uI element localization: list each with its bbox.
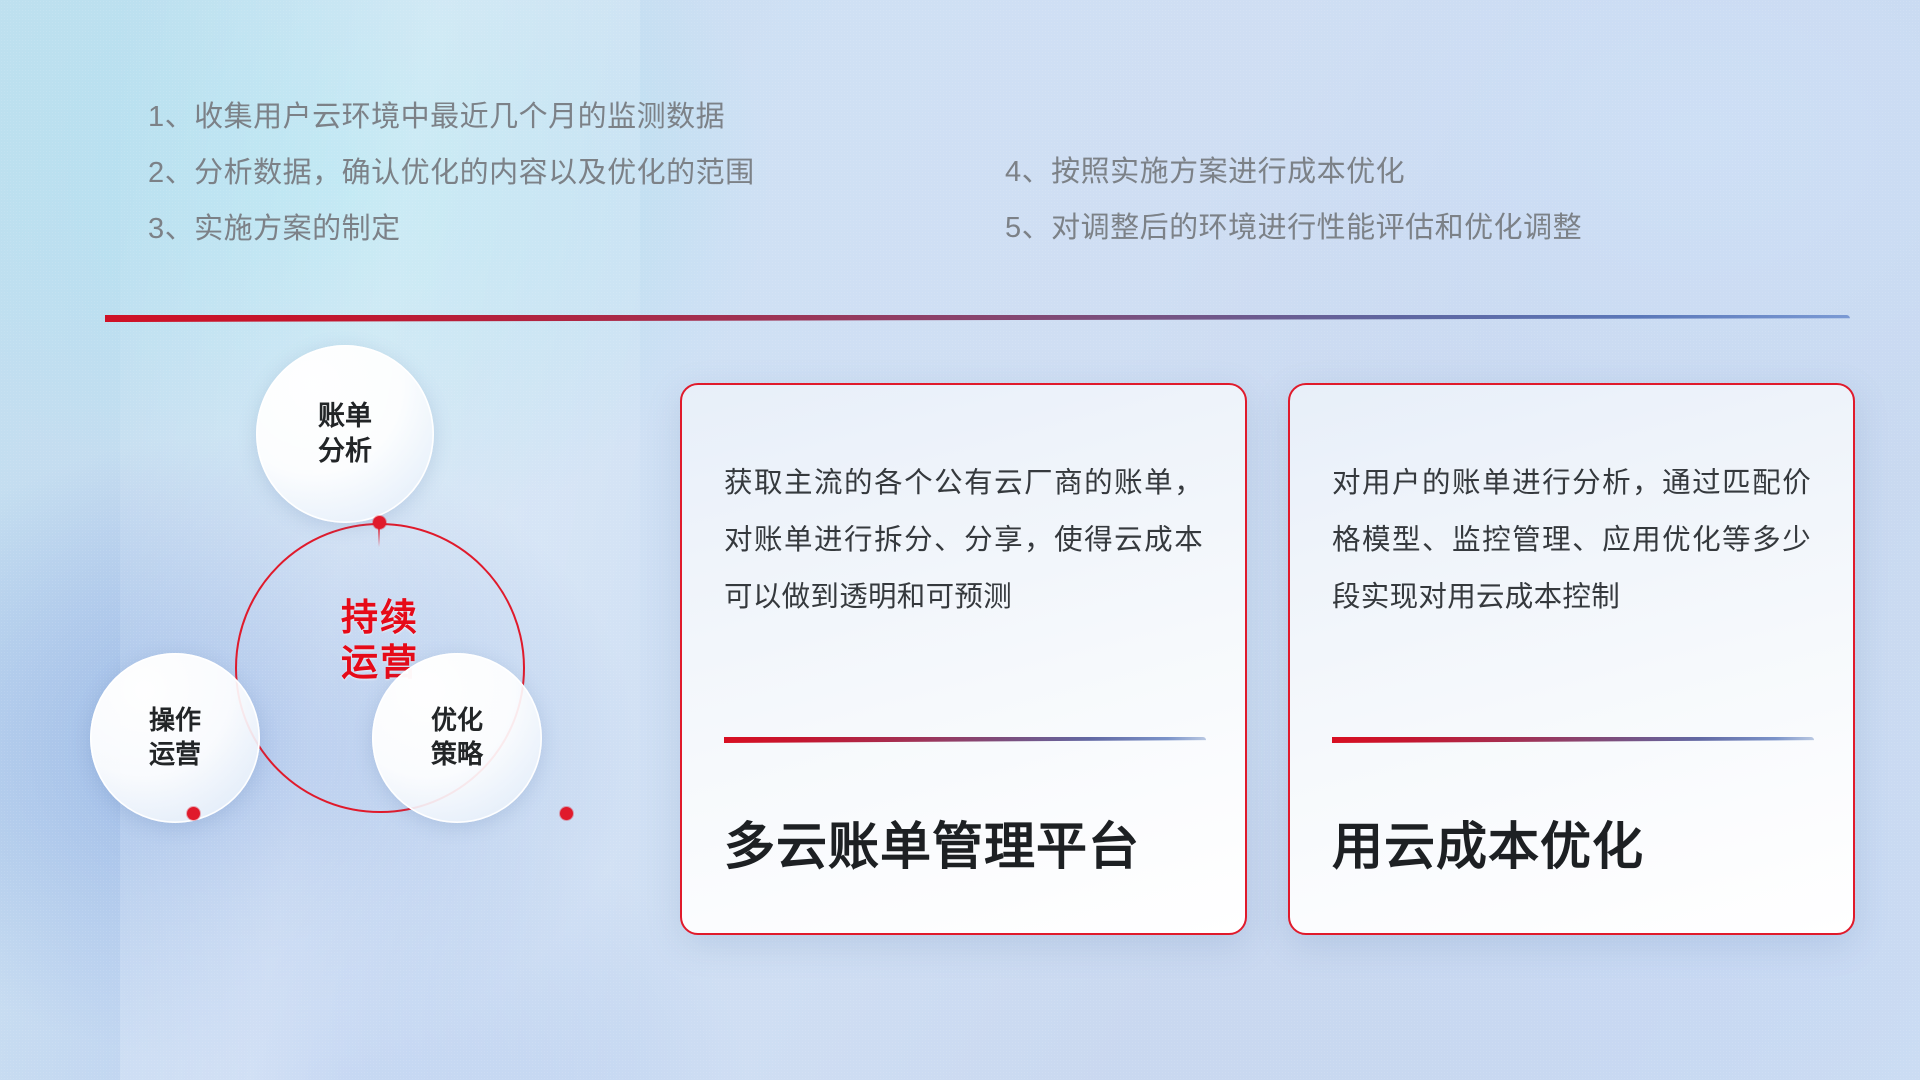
step-item-4: 4、按照实施方案进行成本优化 bbox=[1005, 155, 1582, 189]
bubble-left-line1: 操作 bbox=[149, 704, 201, 738]
diagram-bubble-operations[interactable]: 操作 运营 bbox=[90, 653, 260, 823]
diagram-node-dot-right bbox=[560, 807, 573, 820]
diagram-center-label-line1: 持续 bbox=[310, 595, 450, 640]
steps-list-left: 1、收集用户云环境中最近几个月的监测数据 2、分析数据，确认优化的内容以及优化的… bbox=[148, 100, 755, 247]
bubble-left-line2: 运营 bbox=[149, 738, 201, 772]
diagram-node-dot-top bbox=[373, 516, 386, 529]
card-1-divider bbox=[724, 737, 1206, 743]
card-1-body: 获取主流的各个公有云厂商的账单，对账单进行拆分、分享，使得云成本可以做到透明和可… bbox=[724, 455, 1203, 626]
card-2-divider bbox=[1332, 737, 1814, 743]
continuous-operations-diagram: 持续 运营 账单 分析 操作 运营 优化 策略 bbox=[100, 355, 630, 935]
step-item-2: 2、分析数据，确认优化的内容以及优化的范围 bbox=[148, 156, 755, 190]
step-item-3: 3、实施方案的制定 bbox=[148, 212, 755, 246]
bubble-right-line1: 优化 bbox=[431, 704, 483, 738]
step-item-5: 5、对调整后的环境进行性能评估和优化调整 bbox=[1005, 211, 1582, 245]
card-2-body: 对用户的账单进行分析，通过匹配价格模型、监控管理、应用优化等多少段实现对用云成本… bbox=[1332, 455, 1811, 626]
diagram-node-dot-left bbox=[187, 807, 200, 820]
feature-card-cloud-cost-optimization[interactable]: 对用户的账单进行分析，通过匹配价格模型、监控管理、应用优化等多少段实现对用云成本… bbox=[1288, 383, 1855, 935]
bubble-top-line1: 账单 bbox=[318, 399, 372, 434]
card-1-title: 多云账单管理平台 bbox=[724, 805, 1203, 879]
section-divider-rule bbox=[105, 315, 1850, 322]
diagram-connector-tail-top bbox=[378, 527, 380, 547]
card-2-title: 用云成本优化 bbox=[1332, 805, 1811, 879]
bubble-right-line2: 策略 bbox=[431, 738, 483, 772]
diagram-bubble-billing-analysis[interactable]: 账单 分析 bbox=[256, 345, 434, 523]
bubble-top-line2: 分析 bbox=[318, 434, 372, 469]
diagram-bubble-optimization-strategy[interactable]: 优化 策略 bbox=[372, 653, 542, 823]
steps-list-right: 4、按照实施方案进行成本优化 5、对调整后的环境进行性能评估和优化调整 bbox=[1005, 155, 1582, 245]
feature-card-multicloud-billing[interactable]: 获取主流的各个公有云厂商的账单，对账单进行拆分、分享，使得云成本可以做到透明和可… bbox=[680, 383, 1247, 935]
step-item-1: 1、收集用户云环境中最近几个月的监测数据 bbox=[148, 100, 755, 134]
